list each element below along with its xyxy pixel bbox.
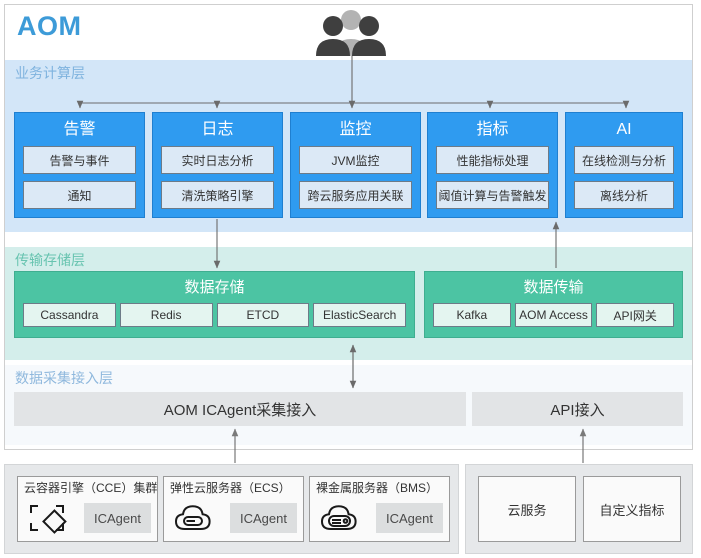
infrastructure-services-panel: 云服务 自定义指标: [465, 464, 693, 554]
group-data-transport-items: Kafka AOM Access API网关: [433, 303, 674, 327]
storage-item-etcd[interactable]: ETCD: [217, 303, 310, 327]
group-data-storage[interactable]: 数据存储 Cassandra Redis ETCD ElasticSearch: [14, 271, 415, 338]
card-ai-title: AI: [616, 122, 631, 138]
card-alarm[interactable]: 告警 告警与事件 通知: [14, 112, 145, 218]
card-metric-item-0[interactable]: 性能指标处理: [436, 146, 549, 174]
host-bms-agent-badge[interactable]: ICAgent: [376, 503, 443, 533]
group-data-storage-title: 数据存储: [184, 280, 244, 295]
card-log[interactable]: 日志 实时日志分析 清洗策略引擎: [152, 112, 283, 218]
storage-item-redis[interactable]: Redis: [120, 303, 213, 327]
card-monitor-title: 监控: [339, 122, 371, 138]
bar-icagent-collection[interactable]: AOM ICAgent采集接入: [14, 392, 466, 426]
host-bms-label: 裸金属服务器（BMS）: [316, 482, 445, 494]
card-alarm-item-1[interactable]: 通知: [23, 181, 136, 209]
storage-item-cassandra[interactable]: Cassandra: [23, 303, 116, 327]
card-log-title: 日志: [201, 122, 233, 138]
group-data-storage-items: Cassandra Redis ETCD ElasticSearch: [23, 303, 406, 327]
card-log-item-0[interactable]: 实时日志分析: [161, 146, 274, 174]
card-monitor-item-1[interactable]: 跨云服务应用关联: [299, 181, 412, 209]
users-icon: [311, 8, 391, 56]
ecs-cloud-server-icon: [173, 501, 213, 535]
layer-data-collection-label: 数据采集接入层: [15, 370, 113, 388]
bar-api-access[interactable]: API接入: [472, 392, 683, 426]
group-data-transport[interactable]: 数据传输 Kafka AOM Access API网关: [424, 271, 683, 338]
host-ecs-agent-badge[interactable]: ICAgent: [230, 503, 297, 533]
storage-item-elasticsearch[interactable]: ElasticSearch: [313, 303, 406, 327]
card-monitor[interactable]: 监控 JVM监控 跨云服务应用关联: [290, 112, 421, 218]
bms-bare-metal-icon: [319, 501, 359, 535]
host-ecs-label: 弹性云服务器（ECS）: [170, 482, 299, 494]
card-ai-item-1[interactable]: 离线分析: [574, 181, 674, 209]
host-cce-agent-badge[interactable]: ICAgent: [84, 503, 151, 533]
card-metric-title: 指标: [476, 122, 508, 138]
card-monitor-item-0[interactable]: JVM监控: [299, 146, 412, 174]
card-metric-item-1[interactable]: 阈值计算与告警触发: [436, 181, 549, 209]
card-ai[interactable]: AI 在线检测与分析 离线分析: [565, 112, 683, 218]
page-title: AOM: [17, 13, 82, 40]
service-custom-metrics[interactable]: 自定义指标: [583, 476, 681, 542]
card-ai-item-0[interactable]: 在线检测与分析: [574, 146, 674, 174]
layer-transport-storage-label: 传输存储层: [15, 252, 85, 270]
card-alarm-item-0[interactable]: 告警与事件: [23, 146, 136, 174]
card-alarm-title: 告警: [63, 122, 95, 138]
group-data-transport-title: 数据传输: [523, 280, 583, 295]
service-cloud-services[interactable]: 云服务: [478, 476, 576, 542]
transport-item-api-gateway[interactable]: API网关: [596, 303, 674, 327]
cce-cluster-icon: [27, 501, 67, 535]
host-bms[interactable]: 裸金属服务器（BMS） ICAgent: [309, 476, 450, 542]
transport-item-aom-access[interactable]: AOM Access: [515, 303, 593, 327]
layer-business-computing-label: 业务计算层: [15, 65, 85, 83]
host-cce-cluster[interactable]: 云容器引擎（CCE）集群 ICAgent: [17, 476, 158, 542]
card-log-item-1[interactable]: 清洗策略引擎: [161, 181, 274, 209]
host-ecs[interactable]: 弹性云服务器（ECS） ICAgent: [163, 476, 304, 542]
architecture-diagram: AOM 业务计算层 告警 告警与事件 通知 日志 实时日志分析 清洗策略引擎 监…: [0, 0, 701, 558]
transport-item-kafka[interactable]: Kafka: [433, 303, 511, 327]
host-cce-cluster-label: 云容器引擎（CCE）集群: [24, 482, 153, 494]
card-metric[interactable]: 指标 性能指标处理 阈值计算与告警触发: [427, 112, 558, 218]
infrastructure-compute-panel: 云容器引擎（CCE）集群 ICAgent 弹性云服务器（ECS）: [4, 464, 459, 554]
